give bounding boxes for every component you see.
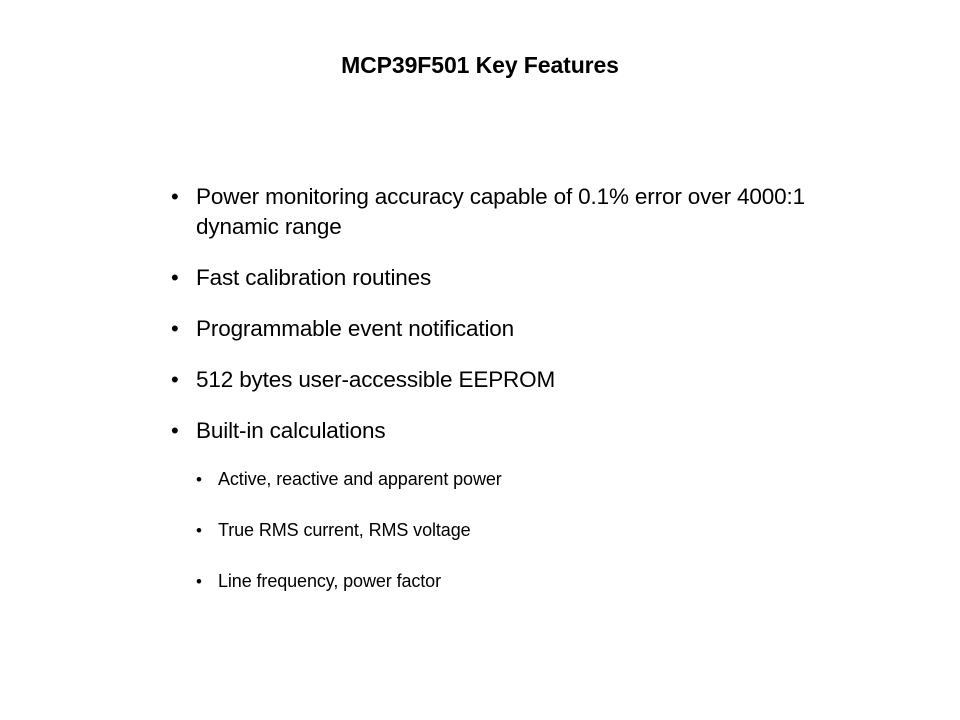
list-item-label: Power monitoring accuracy capable of 0.1…	[196, 182, 808, 242]
list-item: • Built-in calculations	[168, 416, 808, 446]
bullet-icon: •	[168, 182, 196, 212]
sub-bullet-list: • Active, reactive and apparent power • …	[168, 467, 808, 594]
feature-bullet-list: • Power monitoring accuracy capable of 0…	[168, 182, 808, 620]
bullet-icon: •	[168, 569, 218, 594]
sub-list-item-label: Active, reactive and apparent power	[218, 467, 808, 492]
sub-list-item: • Line frequency, power factor	[168, 569, 808, 594]
list-item-label: 512 bytes user-accessible EEPROM	[196, 365, 808, 395]
slide-canvas: MCP39F501 Key Features • Power monitorin…	[0, 0, 960, 720]
list-item-label: Programmable event notification	[196, 314, 808, 344]
list-item: • 512 bytes user-accessible EEPROM	[168, 365, 808, 395]
list-item-label: Fast calibration routines	[196, 263, 808, 293]
sub-list-item-label: Line frequency, power factor	[218, 569, 808, 594]
bullet-icon: •	[168, 416, 196, 446]
bullet-icon: •	[168, 263, 196, 293]
list-item: • Programmable event notification	[168, 314, 808, 344]
bullet-icon: •	[168, 314, 196, 344]
sub-list-item: • True RMS current, RMS voltage	[168, 518, 808, 543]
bullet-icon: •	[168, 518, 218, 543]
list-item: • Fast calibration routines	[168, 263, 808, 293]
page-title: MCP39F501 Key Features	[0, 52, 960, 78]
sub-list-item: • Active, reactive and apparent power	[168, 467, 808, 492]
bullet-icon: •	[168, 365, 196, 395]
list-item-label: Built-in calculations	[196, 416, 808, 446]
sub-list-item-label: True RMS current, RMS voltage	[218, 518, 808, 543]
list-item: • Power monitoring accuracy capable of 0…	[168, 182, 808, 242]
bullet-icon: •	[168, 467, 218, 492]
